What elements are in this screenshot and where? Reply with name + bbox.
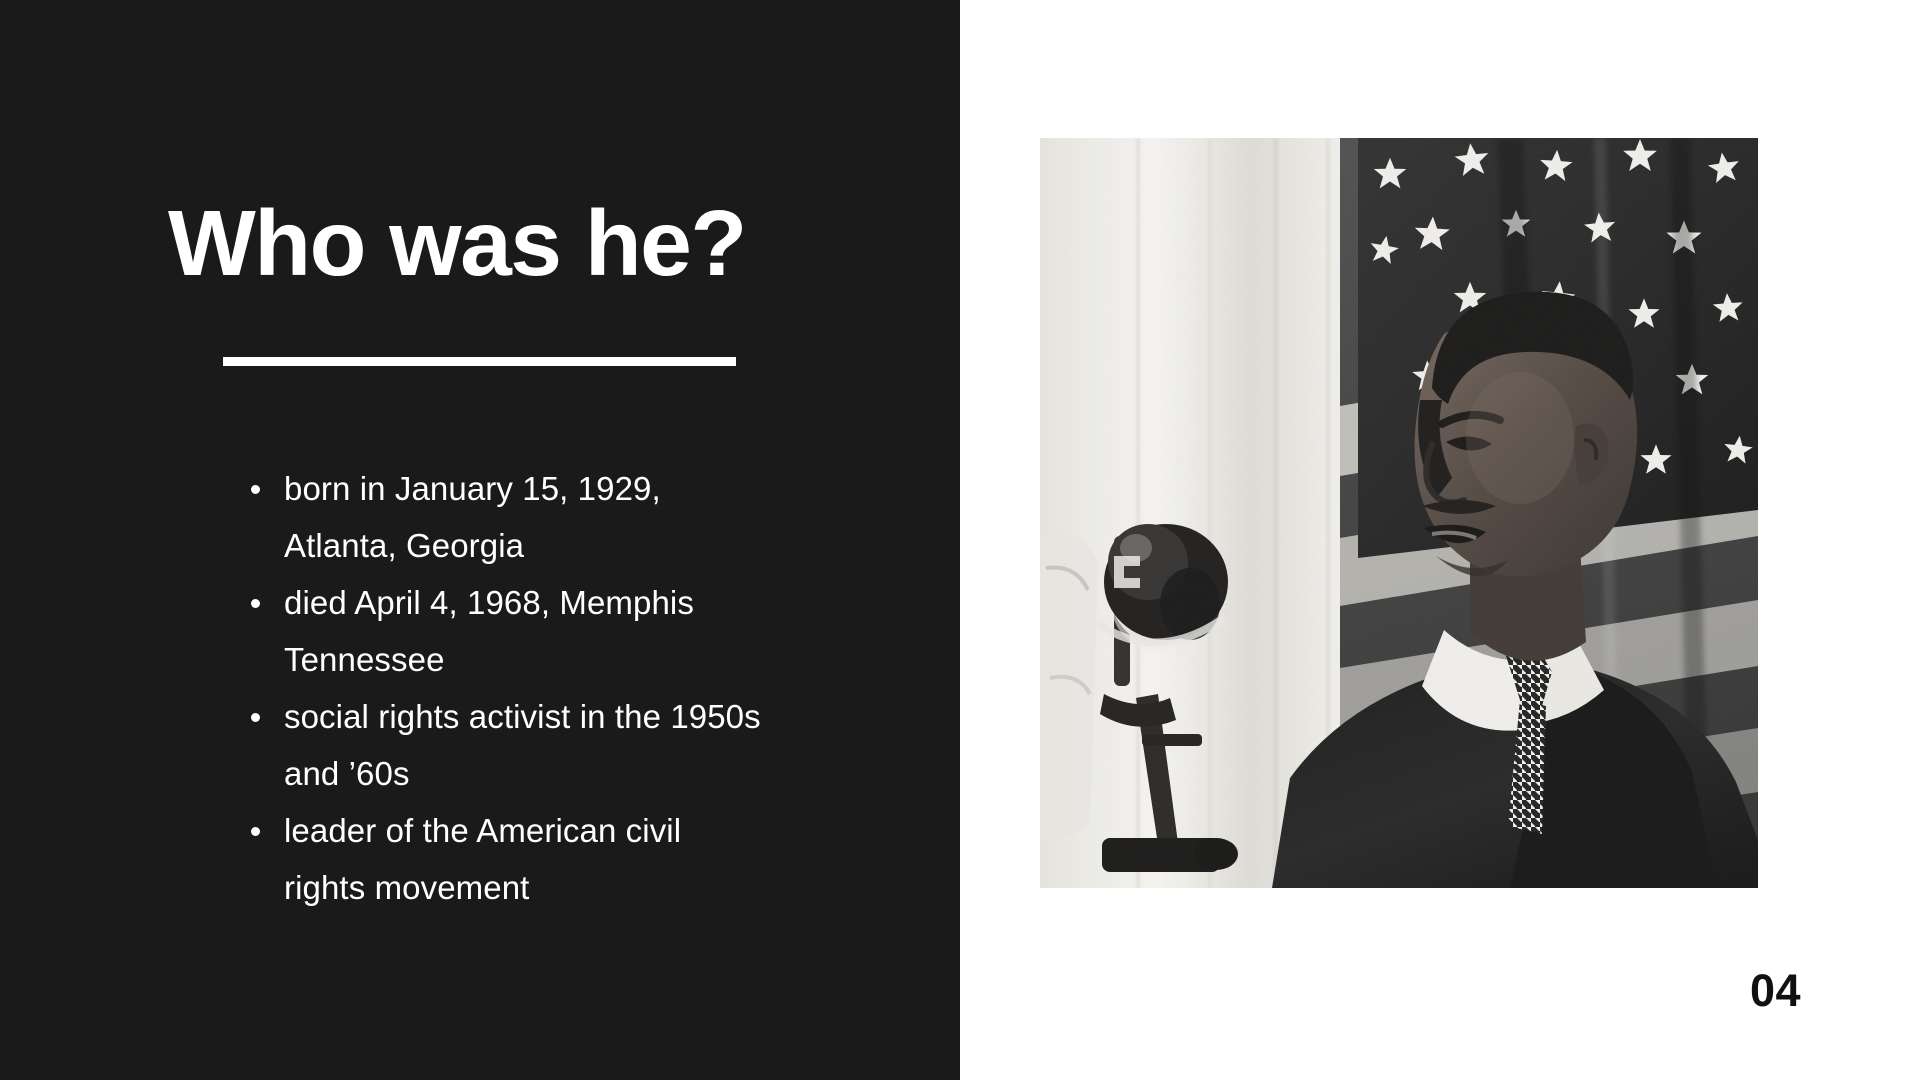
list-item-text: social rights activist in the 1950s and …: [284, 698, 761, 792]
list-item-text: born in January 15, 1929, Atlanta, Georg…: [284, 470, 661, 564]
list-item-text: leader of the American civil rights move…: [284, 812, 681, 906]
page-number: 04: [1750, 965, 1801, 1017]
list-item: died April 4, 1968, Memphis Tennessee: [243, 574, 763, 688]
title-divider-rule: [223, 357, 736, 366]
bullet-list: born in January 15, 1929, Atlanta, Georg…: [243, 460, 763, 916]
right-white-panel: 04: [960, 0, 1919, 1080]
portrait-photo: [1040, 138, 1758, 888]
list-item: social rights activist in the 1950s and …: [243, 688, 763, 802]
page-title: Who was he?: [168, 196, 746, 291]
slide-04: Who was he? born in January 15, 1929, At…: [0, 0, 1919, 1080]
list-item-text: died April 4, 1968, Memphis Tennessee: [284, 584, 694, 678]
portrait-photo-graphic: [1040, 138, 1758, 888]
left-dark-panel: Who was he? born in January 15, 1929, At…: [0, 0, 960, 1080]
list-item: leader of the American civil rights move…: [243, 802, 763, 916]
list-item: born in January 15, 1929, Atlanta, Georg…: [243, 460, 763, 574]
